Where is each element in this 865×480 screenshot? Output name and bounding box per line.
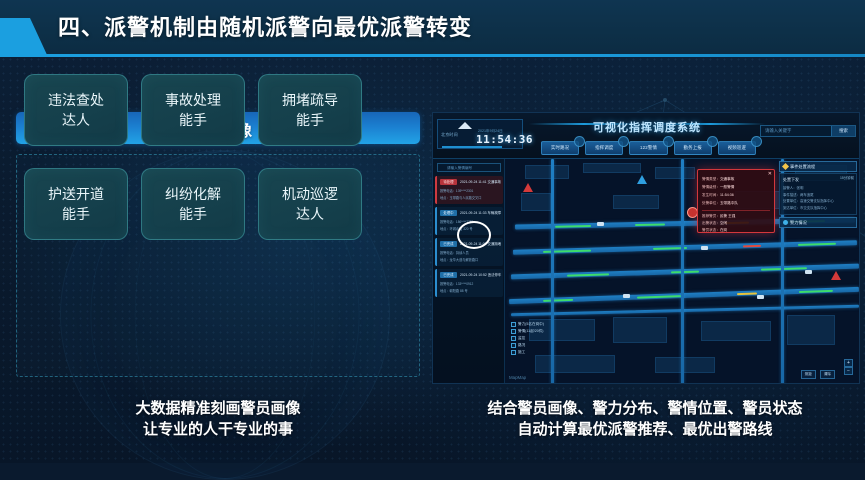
popup-row: 发生时间：11:54:36 xyxy=(702,193,734,198)
alarm-status-badge: 待处理 xyxy=(440,179,457,185)
legend-checkbox[interactable] xyxy=(511,350,516,355)
side-panel-header-label: 事件处置流程 xyxy=(790,164,815,170)
legend-row[interactable]: 路况 xyxy=(511,343,555,348)
alarm-phone: 报警电话：133****0912 xyxy=(440,281,473,286)
skill-tag-line2: 能手 xyxy=(179,112,207,128)
traffic-segment-green xyxy=(799,289,833,292)
legend-checkbox[interactable] xyxy=(511,336,516,341)
alarm-map-marker[interactable] xyxy=(831,271,841,280)
dispatch-system-screenshot: 可视化指挥调度系统 北京时间 2021年9月24日 11:54:36 实时路况 … xyxy=(432,112,860,384)
nav-button-realtime-traffic[interactable]: 实时路况 xyxy=(541,141,579,155)
map-block xyxy=(521,193,551,211)
popup-row-label: 警情类型 xyxy=(702,177,716,181)
popup-row-label: 推荐警员 xyxy=(702,214,716,218)
vehicle-icon xyxy=(623,294,630,298)
traffic-segment-green xyxy=(798,242,836,245)
side-panel-header-label: 警力情况 xyxy=(790,220,807,226)
alarm-search-input[interactable]: 请输入警情编号 xyxy=(437,163,501,172)
popup-row: 处警单位：玉带路中队 xyxy=(702,201,738,206)
legend-label: 路况 xyxy=(518,343,525,348)
skill-tag-line2: 达人 xyxy=(62,112,90,128)
popup-row-label: 处警单位 xyxy=(702,201,716,205)
alarm-location: 地点：玉带路与人民路交叉口 xyxy=(440,195,481,200)
traffic-segment-green xyxy=(567,273,609,276)
legend-label: 监控 xyxy=(518,336,525,341)
clock-accent-bar xyxy=(442,146,502,148)
map-block xyxy=(583,163,641,173)
dashboard-search[interactable]: 请输入关键字 搜索 xyxy=(760,125,856,137)
skill-tag-grid: 违法查处达人 事故处理能手 拥堵疏导能手 护送开道能手 纠纷化解能手 机动巡逻达… xyxy=(24,74,414,240)
alarm-list-item[interactable]: 已完成 2021-09-24 10:52 违法停车 报警电话：133****09… xyxy=(435,269,503,297)
left-caption-line2: 让专业的人干专业的事 xyxy=(16,419,420,440)
skill-tag-card[interactable]: 护送开道能手 xyxy=(24,168,128,240)
side-panel-time-badge: 15分钟前 xyxy=(840,175,854,180)
close-icon[interactable]: ✕ xyxy=(768,171,772,177)
popup-row-value: 在岗 xyxy=(720,228,727,232)
map-road xyxy=(509,287,859,304)
nav-button-video-patrol[interactable]: 视频巡逻 xyxy=(718,141,756,155)
shield-icon xyxy=(783,220,788,225)
zoom-in-button[interactable]: + xyxy=(844,359,853,367)
highlight-ellipse-annotation xyxy=(457,221,491,249)
map-block xyxy=(701,321,771,341)
dashboard-header: 可视化指挥调度系统 北京时间 2021年9月24日 11:54:36 实时路况 … xyxy=(433,113,860,159)
legend-row[interactable]: 施工 xyxy=(511,350,555,355)
side-panel-row: 处置单位：高速交警支队指挥中心 xyxy=(783,198,853,203)
search-input[interactable]: 请输入关键字 xyxy=(761,126,831,136)
flag-icon xyxy=(782,163,789,170)
dashboard-nav-buttons: 实时路况 指挥调度 122警情 勤务上报 视频巡逻 xyxy=(541,141,756,157)
nav-button-label: 122警情 xyxy=(640,145,657,151)
map-measure-button[interactable]: 测距 xyxy=(801,370,816,379)
nav-button-duty-report[interactable]: 勤务上报 xyxy=(674,141,712,155)
map-block xyxy=(655,357,715,373)
traffic-map[interactable]: 警力(5名在岗中) 警情(11起/20件) 监控 路况 施工 ✕ 警情类型：交通… xyxy=(505,159,859,383)
skill-tag-line1: 拥堵疏导 xyxy=(282,92,338,108)
nav-button-dispatch[interactable]: 指挥调度 xyxy=(585,141,623,155)
skill-tag-line2: 能手 xyxy=(296,112,324,128)
alarm-status-badge: 已完成 xyxy=(440,241,457,247)
traffic-segment-yellow xyxy=(737,292,757,295)
map-block xyxy=(525,165,569,179)
nav-button-label: 实时路况 xyxy=(551,145,569,151)
alarm-phone: 报警电话：持续人员 xyxy=(440,250,469,255)
incident-detail-popup[interactable]: ✕ 警情类型：交通事故 警情级别：一般警情 发生时间：11:54:36 处警单位… xyxy=(697,169,775,233)
clock-label: 北京时间 xyxy=(441,132,458,138)
traffic-segment-green xyxy=(555,224,591,227)
alarm-location: 地点：朝阳路 88 号 xyxy=(440,288,468,293)
right-caption-line1: 结合警员画像、警力分布、警情位置、警员状态 xyxy=(430,398,860,419)
dispatch-side-panels: 事件处置流程 15分钟前 处置下发 接警人：张明 事件描述：两车追尾 处置单位：… xyxy=(779,161,857,229)
popup-row: 警情类型：交通事故 xyxy=(702,177,734,182)
clock-time: 11:54:36 xyxy=(476,133,533,146)
legend-label: 警力(5名在岗中) xyxy=(518,322,544,327)
skill-tag-line2: 达人 xyxy=(296,206,324,222)
side-panel-body-event: 15分钟前 处置下发 接警人：张明 事件描述：两车追尾 处置单位：高速交警支队指… xyxy=(779,173,857,215)
left-caption: 大数据精准刻画警员画像 让专业的人干专业的事 xyxy=(16,398,420,440)
popup-row-value: 民警 王强 xyxy=(720,214,735,218)
clock-widget: 北京时间 2021年9月24日 11:54:36 xyxy=(437,119,523,149)
legend-row[interactable]: 警情(11起/20件) xyxy=(511,329,555,334)
popup-row-value: 11:54:36 xyxy=(720,193,734,197)
signal-icon xyxy=(574,136,585,147)
popup-row-value: 交通事故 xyxy=(720,177,734,181)
phone-icon xyxy=(663,136,674,147)
map-clear-button[interactable]: 清除 xyxy=(820,370,835,379)
triangle-icon xyxy=(458,122,472,129)
search-button[interactable]: 搜索 xyxy=(831,126,855,136)
vehicle-icon xyxy=(805,270,812,274)
skill-tag-line1: 机动巡逻 xyxy=(282,186,338,202)
side-panel-row: 事件描述：两车追尾 xyxy=(783,192,853,197)
alarm-title: 2021-09-24 11:41 交通事故 xyxy=(460,179,501,184)
popup-divider xyxy=(702,210,770,211)
legend-row[interactable]: 警力(5名在岗中) xyxy=(511,322,555,327)
police-map-marker[interactable] xyxy=(637,175,647,184)
alarm-phone: 报警电话：139****2301 xyxy=(440,188,473,193)
vehicle-icon xyxy=(701,246,708,250)
map-block xyxy=(535,355,615,373)
skill-tag-line1: 违法查处 xyxy=(48,92,104,108)
legend-checkbox[interactable] xyxy=(511,343,516,348)
report-icon xyxy=(707,136,718,147)
map-block xyxy=(613,317,667,343)
nav-button-label: 勤务上报 xyxy=(684,145,702,151)
popup-row: 警员状态：在岗 xyxy=(702,228,727,233)
skill-tag-card[interactable]: 违法查处达人 xyxy=(24,74,128,146)
skill-tag-line2: 能手 xyxy=(179,206,207,222)
skill-tag-line1: 纠纷化解 xyxy=(165,186,221,202)
legend-label: 警情(11起/20件) xyxy=(518,329,544,334)
skill-tag-line2: 能手 xyxy=(62,206,90,222)
nav-button-label: 指挥调度 xyxy=(595,145,613,151)
map-block xyxy=(655,167,695,179)
nav-button-label: 视频巡逻 xyxy=(728,145,746,151)
legend-label: 施工 xyxy=(518,350,525,355)
alarm-location: 地点：龙华大道与解放路口 xyxy=(440,257,478,262)
dispatch-icon xyxy=(618,136,629,147)
map-road xyxy=(513,240,857,255)
skill-tag-card[interactable]: 机动巡逻达人 xyxy=(258,168,362,240)
alarm-search-placeholder: 请输入警情编号 xyxy=(438,164,500,173)
map-zoom-controls[interactable]: + − xyxy=(844,359,853,375)
alarm-title: 2021-09-24 10:52 违法停车 xyxy=(460,272,501,277)
nav-button-122-alarm[interactable]: 122警情 xyxy=(629,141,667,155)
side-panel-row: 接警人：张明 xyxy=(783,185,853,190)
skill-tag-line1: 护送开道 xyxy=(48,186,104,202)
alarm-status-badge: 处理中 xyxy=(440,210,457,216)
popup-row-value: 玉带路中队 xyxy=(720,201,738,205)
alarm-title: 2021-09-24 11:33 车辆故障 xyxy=(460,210,501,215)
map-tool-buttons: 测距 清除 xyxy=(801,370,835,379)
traffic-segment-green xyxy=(637,295,681,299)
zoom-out-button[interactable]: − xyxy=(844,367,853,375)
popup-row: 出警状态：空闲 xyxy=(702,221,727,226)
legend-checkbox[interactable] xyxy=(511,329,516,334)
skill-tag-card[interactable]: 拥堵疏导能手 xyxy=(258,74,362,146)
corner-accent-shape xyxy=(0,0,62,57)
popup-row-value: 一般警情 xyxy=(720,185,734,189)
map-legend: 警力(5名在岗中) 警情(11起/20件) 监控 路况 施工 xyxy=(511,322,555,357)
right-caption-line2: 自动计算最优派警推荐、最优出警路线 xyxy=(430,419,860,440)
right-caption: 结合警员画像、警力分布、警情位置、警员状态 自动计算最优派警推荐、最优出警路线 xyxy=(430,398,860,440)
side-panel-row: 到达单位：市交支队指挥中心 xyxy=(783,205,853,210)
popup-row: 推荐警员：民警 王强 xyxy=(702,214,735,219)
side-panel-header-police-force[interactable]: 警力情况 xyxy=(779,217,857,228)
left-caption-line1: 大数据精准刻画警员画像 xyxy=(16,398,420,419)
map-block xyxy=(787,315,835,345)
map-road-vertical xyxy=(681,159,684,383)
popup-row-label: 发生时间 xyxy=(702,193,716,197)
skill-tag-card[interactable]: 纠纷化解能手 xyxy=(141,168,245,240)
skill-tag-line1: 事故处理 xyxy=(165,92,221,108)
popup-row-label: 警员状态 xyxy=(702,228,716,232)
traffic-segment-green xyxy=(635,223,665,226)
slide-title-bar: 四、派警机制由随机派警向最优派警转变 xyxy=(0,0,865,57)
traffic-segment-red xyxy=(743,244,761,247)
popup-row-label: 警情级别 xyxy=(702,185,716,189)
alarm-list-item[interactable]: 待处理 2021-09-24 11:41 交通事故 报警电话：139****23… xyxy=(435,176,503,204)
map-watermark: MapMap xyxy=(509,375,526,380)
page-title: 四、派警机制由随机派警向最优派警转变 xyxy=(58,10,472,42)
vehicle-icon xyxy=(757,295,764,299)
alarm-list-sidebar: 请输入警情编号 待处理 2021-09-24 11:41 交通事故 报警电话：1… xyxy=(433,159,505,384)
side-panel-header-event[interactable]: 事件处置流程 xyxy=(779,161,857,172)
popup-row-value: 空闲 xyxy=(720,221,727,225)
legend-checkbox[interactable] xyxy=(511,322,516,327)
title-underline xyxy=(44,54,865,57)
traffic-segment-green xyxy=(671,270,699,273)
alarm-status-badge: 已完成 xyxy=(440,272,457,278)
vehicle-icon xyxy=(597,222,604,226)
skill-tag-card[interactable]: 事故处理能手 xyxy=(141,74,245,146)
map-block xyxy=(613,195,659,209)
popup-row-label: 出警状态 xyxy=(702,221,716,225)
traffic-segment-green xyxy=(543,298,573,301)
legend-row[interactable]: 监控 xyxy=(511,336,555,341)
camera-icon xyxy=(751,136,762,147)
alarm-map-marker[interactable] xyxy=(523,183,533,192)
popup-row: 警情级别：一般警情 xyxy=(702,185,734,190)
